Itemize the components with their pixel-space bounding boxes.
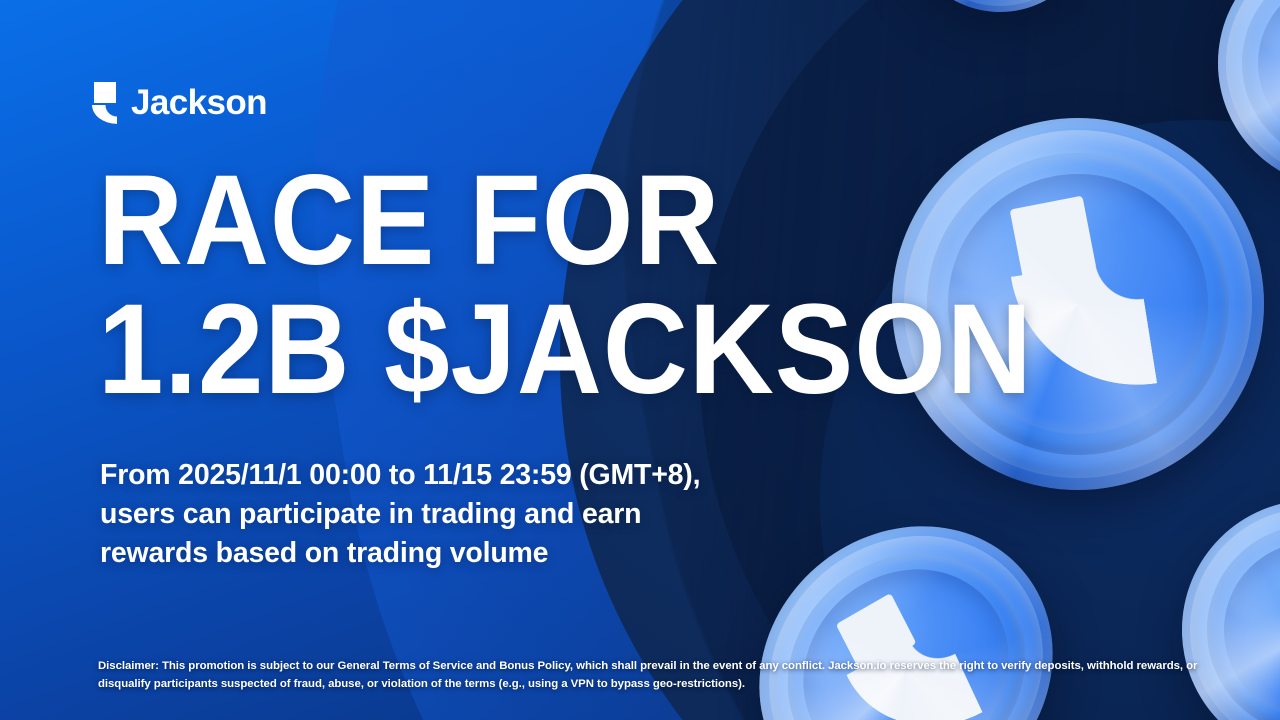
promo-description-line-2: users can participate in trading and ear… xyxy=(100,495,700,534)
j-mark-arc xyxy=(92,105,117,124)
disclaimer-text: Disclaimer: This promotion is subject to… xyxy=(98,657,1208,694)
brand-logo: Jackson xyxy=(92,82,267,122)
brand-wordmark: Jackson xyxy=(131,85,267,120)
headline-line-2: 1.2B $JACKSON xyxy=(98,289,1033,412)
headline: RACE FOR 1.2B $JACKSON xyxy=(98,160,1114,412)
promo-description-line-1: From 2025/11/1 00:00 to 11/15 23:59 (GMT… xyxy=(100,456,700,495)
j-mark-square xyxy=(94,82,116,103)
jackson-j-mark-icon xyxy=(92,82,126,122)
promo-description-line-3: rewards based on trading volume xyxy=(100,534,700,573)
headline-line-1: RACE FOR xyxy=(98,160,1033,283)
promo-description: From 2025/11/1 00:00 to 11/15 23:59 (GMT… xyxy=(100,456,700,573)
content-layer: Jackson RACE FOR 1.2B $JACKSON From 2025… xyxy=(0,0,1280,720)
promo-banner: Jackson RACE FOR 1.2B $JACKSON From 2025… xyxy=(0,0,1280,720)
